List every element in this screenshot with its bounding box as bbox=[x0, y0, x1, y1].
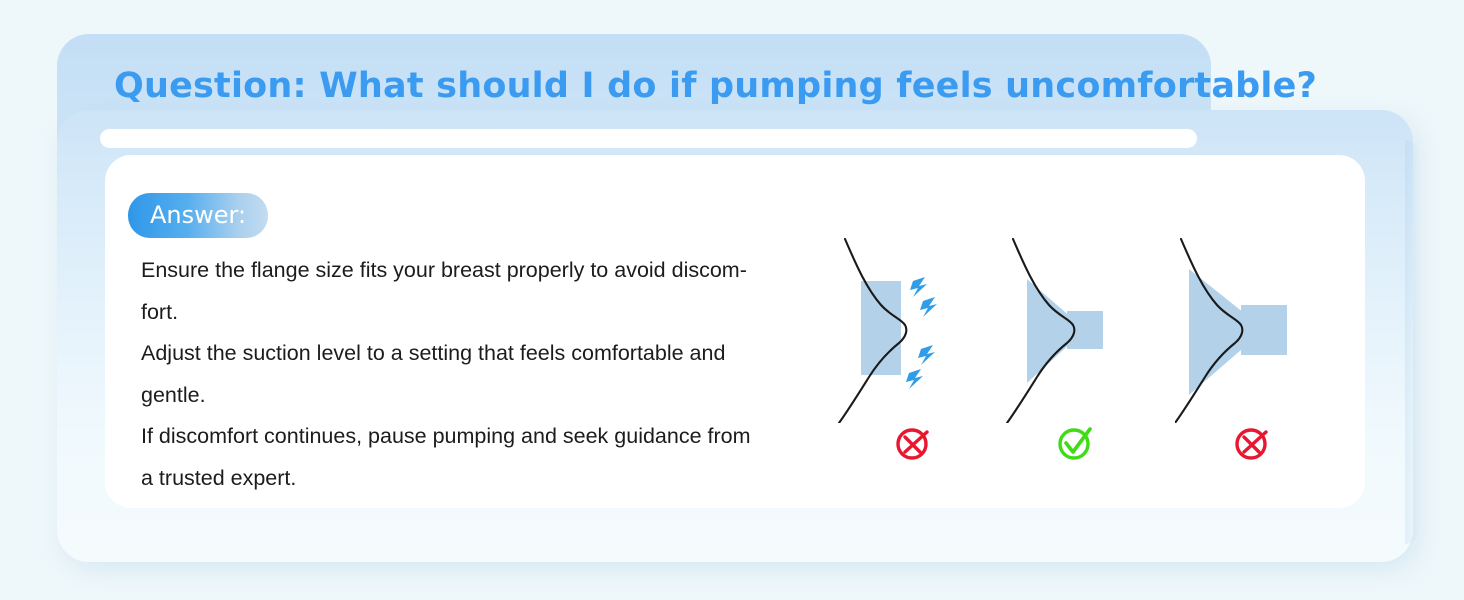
red-x-circle-icon bbox=[893, 423, 933, 463]
flange-too-large-diagram bbox=[1175, 233, 1345, 423]
flange-tunnel bbox=[1067, 311, 1103, 349]
flange-tunnel bbox=[1241, 305, 1287, 355]
flange-fit-illustrations bbox=[835, 233, 1345, 463]
green-check-circle-icon bbox=[1055, 423, 1095, 463]
answer-line: gentle. bbox=[141, 375, 811, 417]
answer-line: fort. bbox=[141, 292, 811, 334]
illustration-flange-too-large bbox=[1175, 233, 1345, 463]
illustration-flange-correct-fit bbox=[1005, 233, 1175, 463]
lightning-bolt-icon bbox=[906, 369, 923, 389]
answer-line: Ensure the flange size fits your breast … bbox=[141, 250, 811, 292]
answer-card: Answer: Ensure the flange size fits your… bbox=[105, 155, 1365, 508]
title-highlight-bar bbox=[100, 129, 1197, 148]
flange-funnel bbox=[1189, 269, 1249, 395]
answer-line: Adjust the suction level to a setting th… bbox=[141, 333, 811, 375]
answer-line: If discomfort continues, pause pumping a… bbox=[141, 416, 811, 458]
page-title: Question: What should I do if pumping fe… bbox=[114, 66, 1317, 106]
red-x-circle-icon bbox=[1232, 423, 1272, 463]
lightning-bolt-icon bbox=[918, 345, 935, 365]
lightning-bolt-icon bbox=[910, 277, 927, 297]
flange-funnel bbox=[1027, 279, 1073, 383]
answer-text-block: Ensure the flange size fits your breast … bbox=[141, 250, 811, 499]
answer-line: a trusted expert. bbox=[141, 458, 811, 500]
lightning-bolt-icon bbox=[920, 297, 937, 317]
flange-too-small-diagram bbox=[835, 233, 1005, 423]
illustration-flange-too-small bbox=[835, 233, 1005, 463]
answer-badge: Answer: bbox=[128, 193, 268, 238]
question-header: Question: What should I do if pumping fe… bbox=[100, 58, 1220, 128]
flange-correct-diagram bbox=[1005, 233, 1175, 423]
